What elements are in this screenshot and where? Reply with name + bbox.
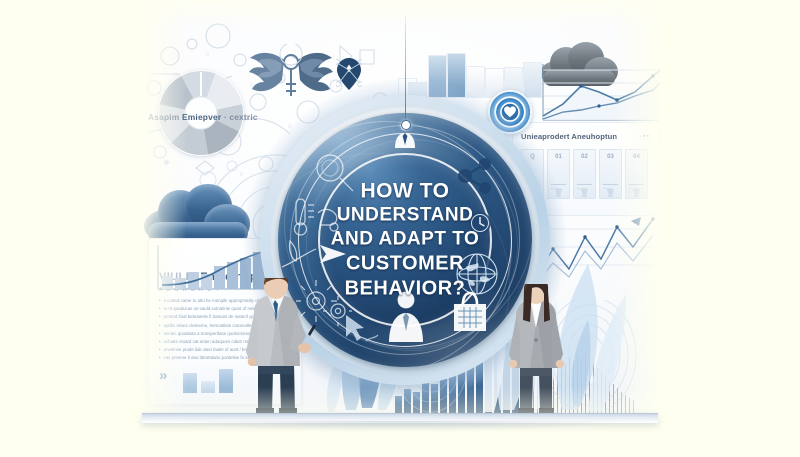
title-line-4: CUSTOMER xyxy=(316,252,494,277)
mini-bar xyxy=(201,381,215,393)
title-line-1: HOW TO xyxy=(316,179,494,204)
connector-dot xyxy=(401,120,411,130)
mini-card: 04 xyxy=(625,149,648,199)
mini-bar xyxy=(183,373,197,393)
mini-card-label: 01 xyxy=(548,154,569,160)
title-line-3: AND ADAPT TO xyxy=(316,228,494,252)
businessman-figure xyxy=(228,278,324,414)
caption-bold: Emiepver xyxy=(182,112,221,122)
cloud-icon-blue xyxy=(144,182,250,244)
caption-lead: Asapim xyxy=(148,112,179,122)
caption-tail: · cextric xyxy=(224,112,258,122)
banner-canvas: abc def gh xyxy=(0,0,800,457)
mini-card: 03 xyxy=(599,149,622,199)
chevron-double-right-icon: » xyxy=(159,367,165,384)
illustration-card: abc def gh xyxy=(140,0,660,416)
top-left-caption: Asapim Emiepver · cextric xyxy=(148,112,258,122)
top-right-line-chart xyxy=(535,62,660,124)
businesswoman-figure xyxy=(492,284,582,414)
svg-text:b: b xyxy=(206,52,210,58)
right-panel-more-icon: ··▪▪ xyxy=(636,133,650,140)
cursor-arrow-icon xyxy=(340,313,380,347)
connector-line xyxy=(405,14,406,124)
title-line-2: UNDERSTAND xyxy=(316,204,494,228)
base-platform xyxy=(142,413,658,423)
title-line-5: BEHAVIOR? xyxy=(316,277,494,302)
donut-notch xyxy=(200,72,202,96)
mini-card-label: 02 xyxy=(574,154,595,160)
mini-card-label: 03 xyxy=(600,154,621,160)
base-platform-shadow xyxy=(152,421,648,435)
mini-card-label: 04 xyxy=(626,154,647,160)
mini-card: 02 xyxy=(573,149,596,199)
